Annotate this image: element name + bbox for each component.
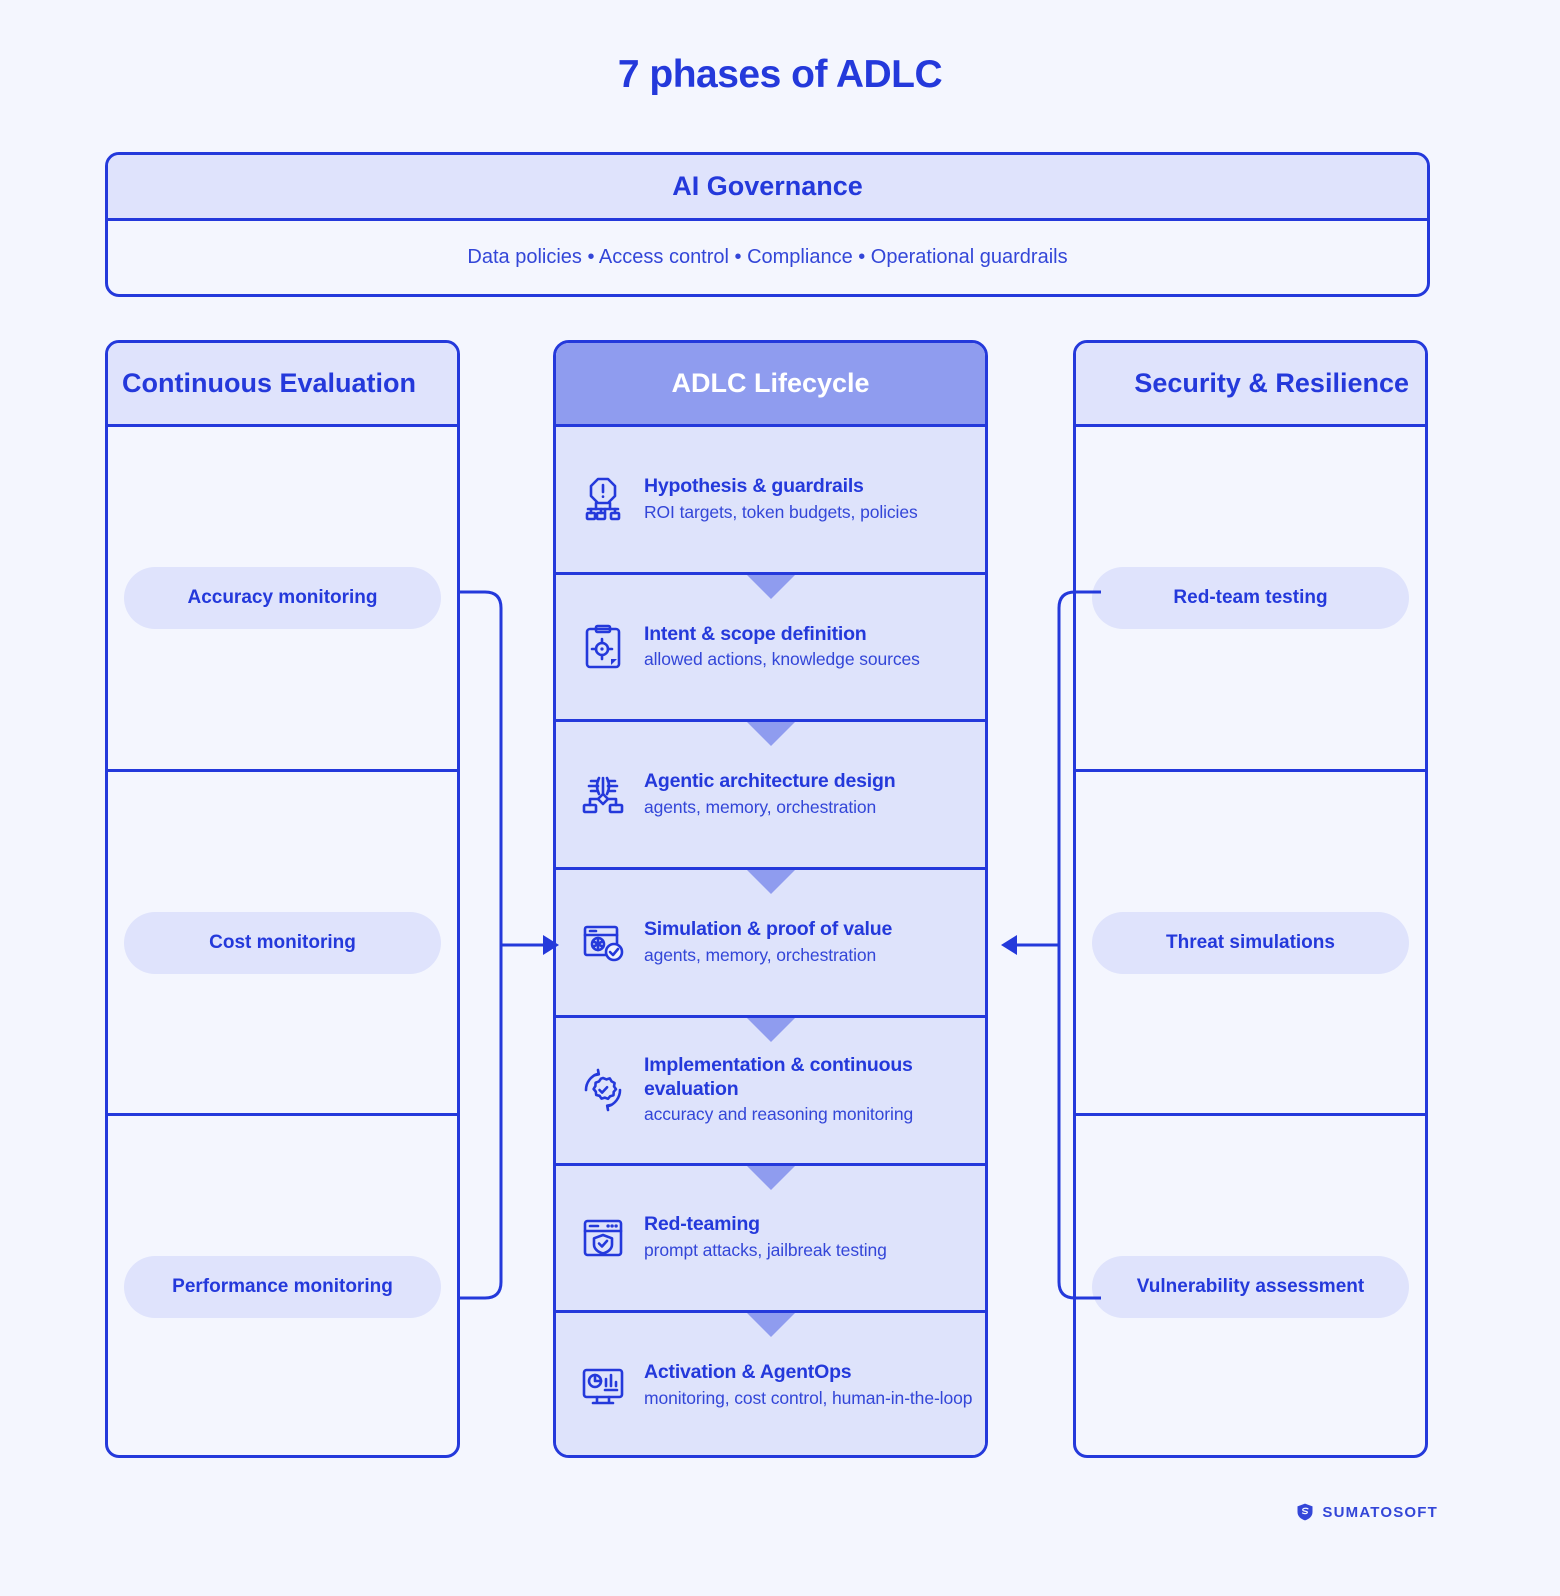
- adlc-phase-list: Hypothesis & guardrails ROI targets, tok…: [556, 427, 985, 1458]
- list-item[interactable]: Cost monitoring: [108, 772, 457, 1117]
- pill-cost-monitoring[interactable]: Cost monitoring: [124, 912, 441, 974]
- phase-title: Hypothesis & guardrails: [644, 475, 973, 499]
- chevron-down-icon: [747, 722, 795, 746]
- security-resilience-body: Red-team testing Threat simulations Vuln…: [1076, 427, 1425, 1458]
- gear-refresh-check-icon: [574, 1061, 632, 1119]
- pill-accuracy-monitoring[interactable]: Accuracy monitoring: [124, 567, 441, 629]
- continuous-evaluation-body: Accuracy monitoring Cost monitoring Perf…: [108, 427, 457, 1458]
- chevron-down-icon: [747, 575, 795, 599]
- phase-text: Activation & AgentOps monitoring, cost c…: [644, 1361, 973, 1410]
- agentic-network-icon: [574, 766, 632, 824]
- infographic-canvas: 7 phases of ADLC AI Governance Data poli…: [0, 0, 1560, 1596]
- chevron-down-icon: [747, 1313, 795, 1337]
- window-check-icon: [574, 914, 632, 972]
- left-connector-bracket: [455, 580, 565, 1310]
- list-item[interactable]: Accuracy monitoring: [108, 427, 457, 772]
- phase-row[interactable]: Intent & scope definition allowed action…: [556, 575, 985, 723]
- list-item[interactable]: Vulnerability assessment: [1076, 1116, 1425, 1458]
- phase-text: Red-teaming prompt attacks, jailbreak te…: [644, 1213, 973, 1262]
- security-resilience-heading: Security & Resilience: [1076, 343, 1425, 427]
- phase-title: Implementation & continuous evaluation: [644, 1054, 973, 1102]
- brand-name: SUMATOSOFT: [1322, 1504, 1438, 1521]
- monitor-analytics-icon: [574, 1357, 632, 1415]
- pill-vulnerability-assessment[interactable]: Vulnerability assessment: [1092, 1256, 1409, 1318]
- phase-title: Agentic architecture design: [644, 770, 973, 794]
- browser-shield-icon: [574, 1209, 632, 1267]
- list-item[interactable]: Red-team testing: [1076, 427, 1425, 772]
- right-connector-bracket: [995, 580, 1105, 1310]
- list-item[interactable]: Threat simulations: [1076, 772, 1425, 1117]
- phase-text: Implementation & continuous evaluation a…: [644, 1054, 973, 1127]
- adlc-lifecycle-heading: ADLC Lifecycle: [556, 343, 985, 427]
- phase-title: Simulation & proof of value: [644, 918, 973, 942]
- phase-row[interactable]: Agentic architecture design agents, memo…: [556, 722, 985, 870]
- phase-row[interactable]: Simulation & proof of value agents, memo…: [556, 870, 985, 1018]
- security-resilience-column: Security & Resilience Red-team testing T…: [1073, 340, 1428, 1458]
- phase-text: Intent & scope definition allowed action…: [644, 623, 973, 672]
- adlc-lifecycle-column: ADLC Lifecycle: [553, 340, 988, 1458]
- phase-text: Hypothesis & guardrails ROI targets, tok…: [644, 475, 973, 524]
- chevron-down-icon: [747, 1018, 795, 1042]
- phase-text: Simulation & proof of value agents, memo…: [644, 918, 973, 967]
- alert-hierarchy-icon: [574, 470, 632, 528]
- phase-title: Red-teaming: [644, 1213, 973, 1237]
- ai-governance-items: Data policies • Access control • Complia…: [108, 221, 1427, 294]
- pill-threat-simulations[interactable]: Threat simulations: [1092, 912, 1409, 974]
- ai-governance-heading: AI Governance: [108, 155, 1427, 221]
- continuous-evaluation-column: Continuous Evaluation Accuracy monitorin…: [105, 340, 460, 1458]
- phase-subtitle: monitoring, cost control, human-in-the-l…: [644, 1386, 973, 1410]
- phase-subtitle: allowed actions, knowledge sources: [644, 647, 973, 671]
- phase-row[interactable]: Activation & AgentOps monitoring, cost c…: [556, 1313, 985, 1458]
- pill-performance-monitoring[interactable]: Performance monitoring: [124, 1256, 441, 1318]
- phase-title: Activation & AgentOps: [644, 1361, 973, 1385]
- page-title: 7 phases of ADLC: [0, 53, 1560, 97]
- phase-row[interactable]: Implementation & continuous evaluation a…: [556, 1018, 985, 1166]
- phase-subtitle: prompt attacks, jailbreak testing: [644, 1238, 973, 1262]
- ai-governance-card: AI Governance Data policies • Access con…: [105, 152, 1430, 297]
- phase-subtitle: agents, memory, orchestration: [644, 795, 973, 819]
- phase-row[interactable]: Red-teaming prompt attacks, jailbreak te…: [556, 1166, 985, 1314]
- phase-subtitle: accuracy and reasoning monitoring: [644, 1102, 973, 1126]
- shield-s-icon: [1295, 1502, 1315, 1522]
- continuous-evaluation-heading: Continuous Evaluation: [108, 343, 457, 427]
- phase-row[interactable]: Hypothesis & guardrails ROI targets, tok…: [556, 427, 985, 575]
- phase-subtitle: ROI targets, token budgets, policies: [644, 500, 973, 524]
- sumatosoft-logo: SUMATOSOFT: [1295, 1502, 1438, 1522]
- pill-red-team-testing[interactable]: Red-team testing: [1092, 567, 1409, 629]
- phase-title: Intent & scope definition: [644, 623, 973, 647]
- list-item[interactable]: Performance monitoring: [108, 1116, 457, 1458]
- chevron-down-icon: [747, 870, 795, 894]
- phase-subtitle: agents, memory, orchestration: [644, 943, 973, 967]
- chevron-down-icon: [747, 1166, 795, 1190]
- clipboard-target-icon: [574, 618, 632, 676]
- phase-text: Agentic architecture design agents, memo…: [644, 770, 973, 819]
